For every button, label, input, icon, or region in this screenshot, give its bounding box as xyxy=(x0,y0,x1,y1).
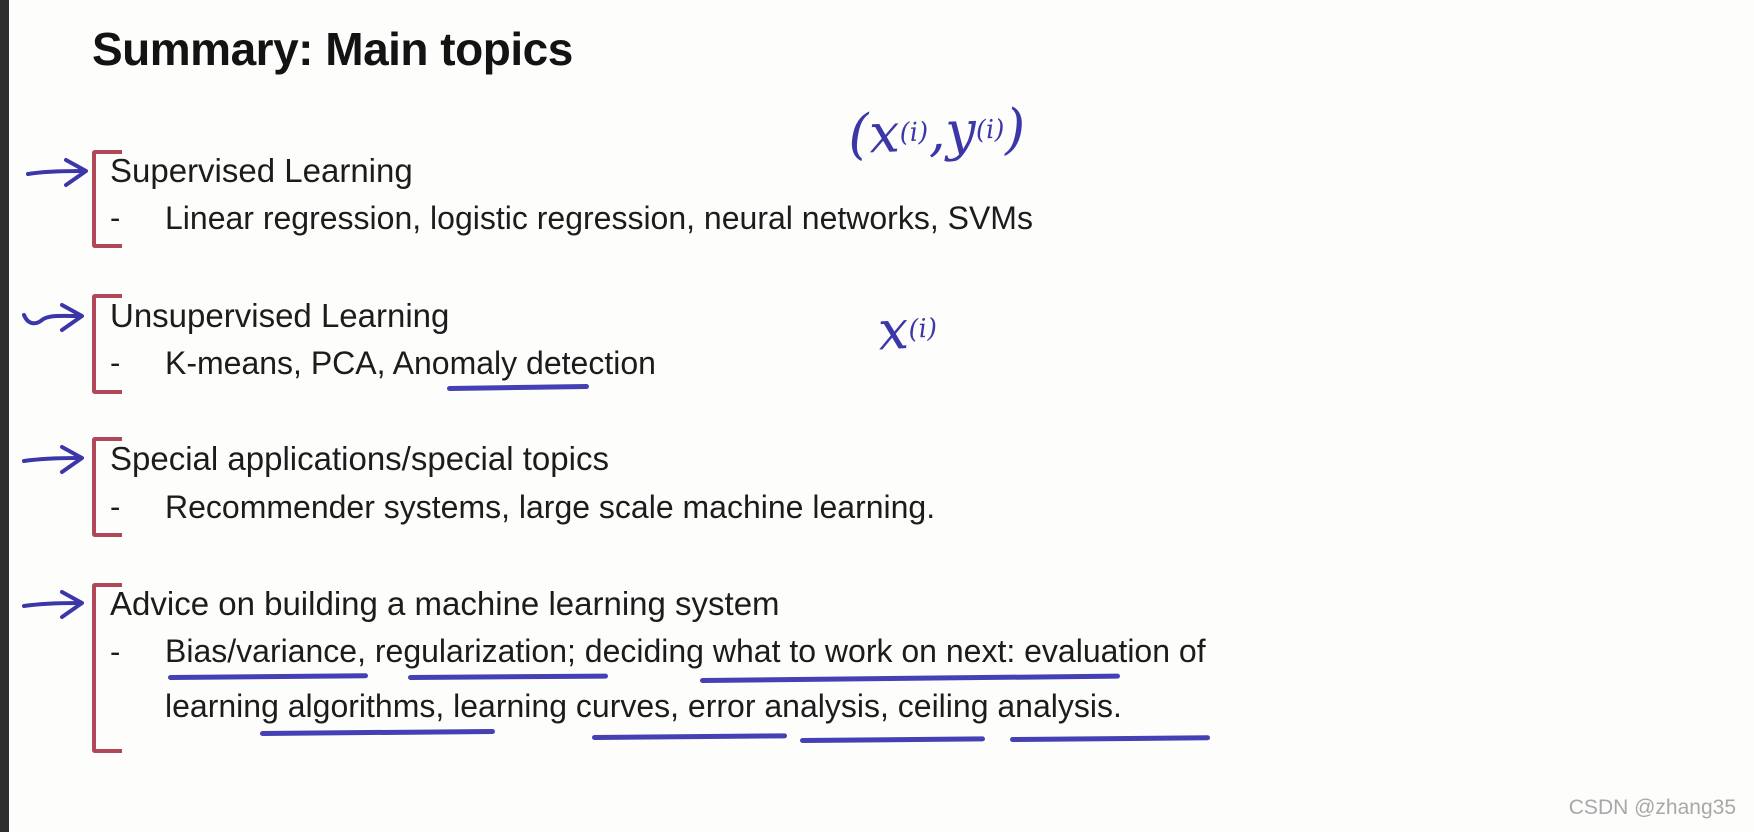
pointer-arrow-1 xyxy=(26,158,90,188)
topic-bullet-marker-1: - xyxy=(110,200,120,236)
underline-bias-variance xyxy=(168,673,368,680)
page-title: Summary: Main topics xyxy=(92,22,573,76)
topic-bullet-1: Linear regression, logistic regression, … xyxy=(165,200,1033,237)
topic-bullet-3: Recommender systems, large scale machine… xyxy=(165,489,935,526)
topic-heading-4: Advice on building a machine learning sy… xyxy=(110,585,780,623)
underline-error-analysis xyxy=(800,736,985,743)
handwritten-training-pair: (x(i),y(i)) xyxy=(847,97,1027,166)
x-superscript: (i) xyxy=(908,313,938,344)
topic-bullet-4-line-1: Bias/variance, regularization; deciding … xyxy=(165,633,1206,670)
frame-left-edge xyxy=(0,0,9,832)
x-symbol: x xyxy=(876,298,910,363)
underline-regularization xyxy=(408,674,608,680)
underline-deciding-what-to-work-on-next xyxy=(700,674,1120,683)
x-superscript: (i) xyxy=(899,117,929,148)
pointer-arrow-2 xyxy=(22,303,86,333)
underline-ceiling-analysis xyxy=(1010,735,1210,742)
pointer-arrow-4 xyxy=(22,590,86,620)
pointer-arrow-3 xyxy=(22,446,86,476)
topic-bullet-4-line-2: learning algorithms, learning curves, er… xyxy=(165,688,1122,725)
topic-bullet-2: K-means, PCA, Anomaly detection xyxy=(165,345,656,382)
paren-close: ) xyxy=(1003,97,1026,161)
paren-open: ( xyxy=(847,102,870,166)
slide-canvas: Summary: Main topics Supervised Learning… xyxy=(0,0,1754,832)
csdn-watermark: CSDN @zhang35 xyxy=(1569,796,1736,820)
topic-heading-1: Supervised Learning xyxy=(110,152,413,190)
underline-learning-curves xyxy=(592,733,787,740)
underline-learning-algorithms xyxy=(260,729,495,736)
topic-bullet-marker-3: - xyxy=(110,489,120,525)
topic-bullet-marker-2: - xyxy=(110,345,120,381)
topic-heading-2: Unsupervised Learning xyxy=(110,297,449,335)
underline-anomaly-detection xyxy=(447,384,589,391)
topic-bullet-marker-4: - xyxy=(110,634,120,670)
topic-heading-3: Special applications/special topics xyxy=(110,440,609,478)
handwritten-unlabeled-example: x(i) xyxy=(876,296,938,362)
y-symbol: y xyxy=(944,99,977,163)
x-symbol: x xyxy=(868,101,901,165)
y-superscript: (i) xyxy=(975,114,1005,145)
